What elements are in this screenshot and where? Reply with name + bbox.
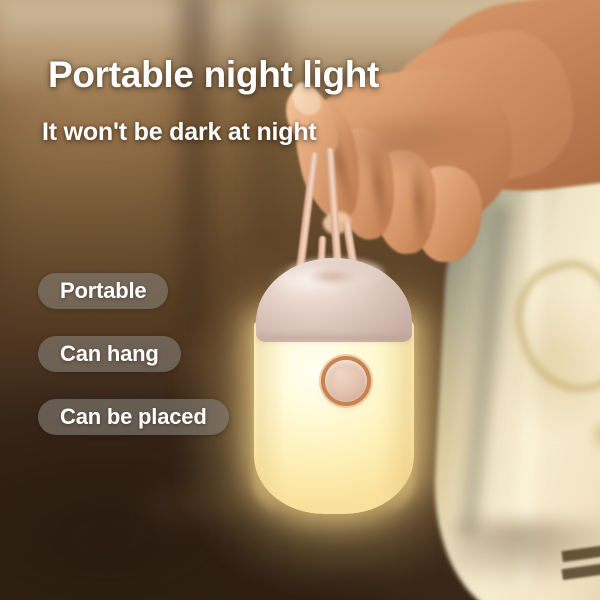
feature-pill-list: Portable Can hang Can be placed (38, 273, 229, 435)
product-marketing-image: Portable night light It won't be dark at… (0, 0, 600, 600)
lamp-cord-anchor (306, 270, 358, 286)
feature-pill-portable: Portable (38, 273, 168, 309)
lamp-body-left-shading (254, 320, 284, 512)
lamp-body-right-shading (382, 320, 414, 512)
page-title: Portable night light (48, 54, 379, 96)
feature-pill-can-be-placed: Can be placed (38, 399, 229, 435)
lamp-dome-seam (258, 333, 410, 343)
feature-pill-can-hang: Can hang (38, 336, 181, 372)
subtitle: It won't be dark at night (42, 118, 317, 147)
lamp-power-button[interactable] (325, 360, 367, 402)
